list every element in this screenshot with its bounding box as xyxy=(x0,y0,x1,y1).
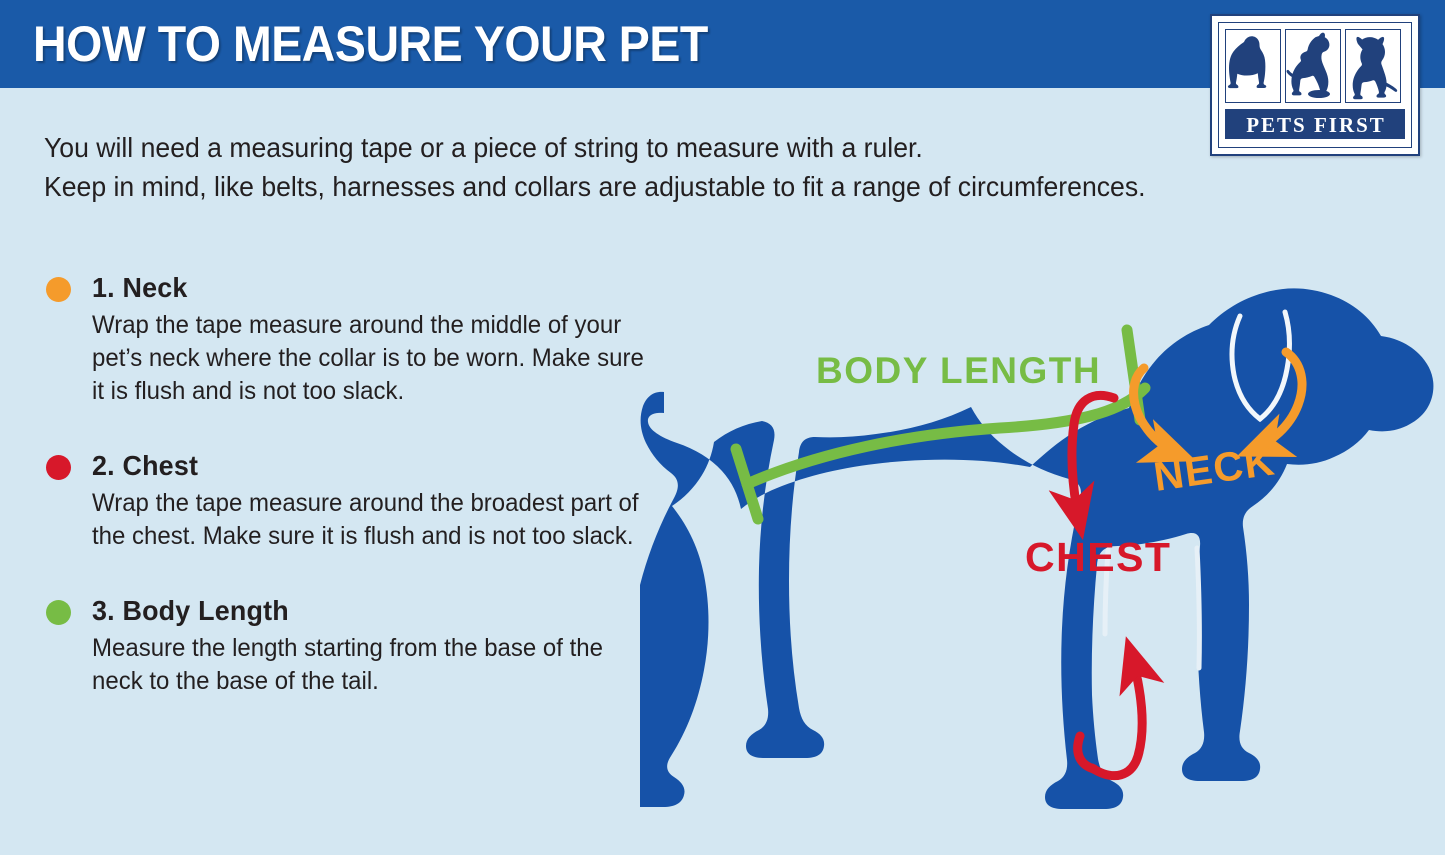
step-title: 1. Neck xyxy=(92,268,632,308)
bottom-white-strip xyxy=(0,855,1445,860)
bullet-icon-neck xyxy=(46,277,71,302)
step-title: 2. Chest xyxy=(92,446,632,486)
label-body-length: BODY LENGTH xyxy=(816,350,1101,391)
logo-inner-frame: PETS FIRST xyxy=(1218,22,1412,148)
logo-wordmark-bar: PETS FIRST xyxy=(1225,109,1405,139)
step-body: Wrap the tape measure around the broades… xyxy=(92,487,649,553)
chest-arrow-up xyxy=(1092,650,1142,776)
dog-lying-silhouette-icon xyxy=(1225,29,1281,103)
dog-sitting-paw-up-silhouette-icon xyxy=(1285,29,1341,103)
infographic-page: HOW TO MEASURE YOUR PET xyxy=(0,0,1445,860)
brand-logo: PETS FIRST xyxy=(1210,14,1420,156)
bullet-icon-body-length xyxy=(46,600,71,625)
dog-measurement-diagram: BODY LENGTH NECK CHEST xyxy=(640,238,1440,858)
step-body: Wrap the tape measure around the middle … xyxy=(92,309,649,408)
intro-text: You will need a measuring tape or a piec… xyxy=(44,128,1204,206)
bullet-icon-chest xyxy=(46,455,71,480)
measurement-steps-list: 1. Neck Wrap the tape measure around the… xyxy=(44,268,654,736)
list-item: 1. Neck Wrap the tape measure around the… xyxy=(44,268,654,408)
intro-line-2: Keep in mind, like belts, harnesses and … xyxy=(44,167,1146,206)
step-body: Measure the length starting from the bas… xyxy=(92,632,649,698)
step-title: 3. Body Length xyxy=(92,591,632,631)
label-chest: CHEST xyxy=(1025,534,1171,580)
list-item: 3. Body Length Measure the length starti… xyxy=(44,591,654,698)
dog-sitting-silhouette-icon xyxy=(1345,29,1401,103)
intro-line-1: You will need a measuring tape or a piec… xyxy=(44,128,1146,167)
dog-front-leg-line xyxy=(1197,548,1199,668)
page-title: HOW TO MEASURE YOUR PET xyxy=(33,16,708,72)
logo-wordmark-text: PETS FIRST xyxy=(1226,110,1406,140)
list-item: 2. Chest Wrap the tape measure around th… xyxy=(44,446,654,553)
